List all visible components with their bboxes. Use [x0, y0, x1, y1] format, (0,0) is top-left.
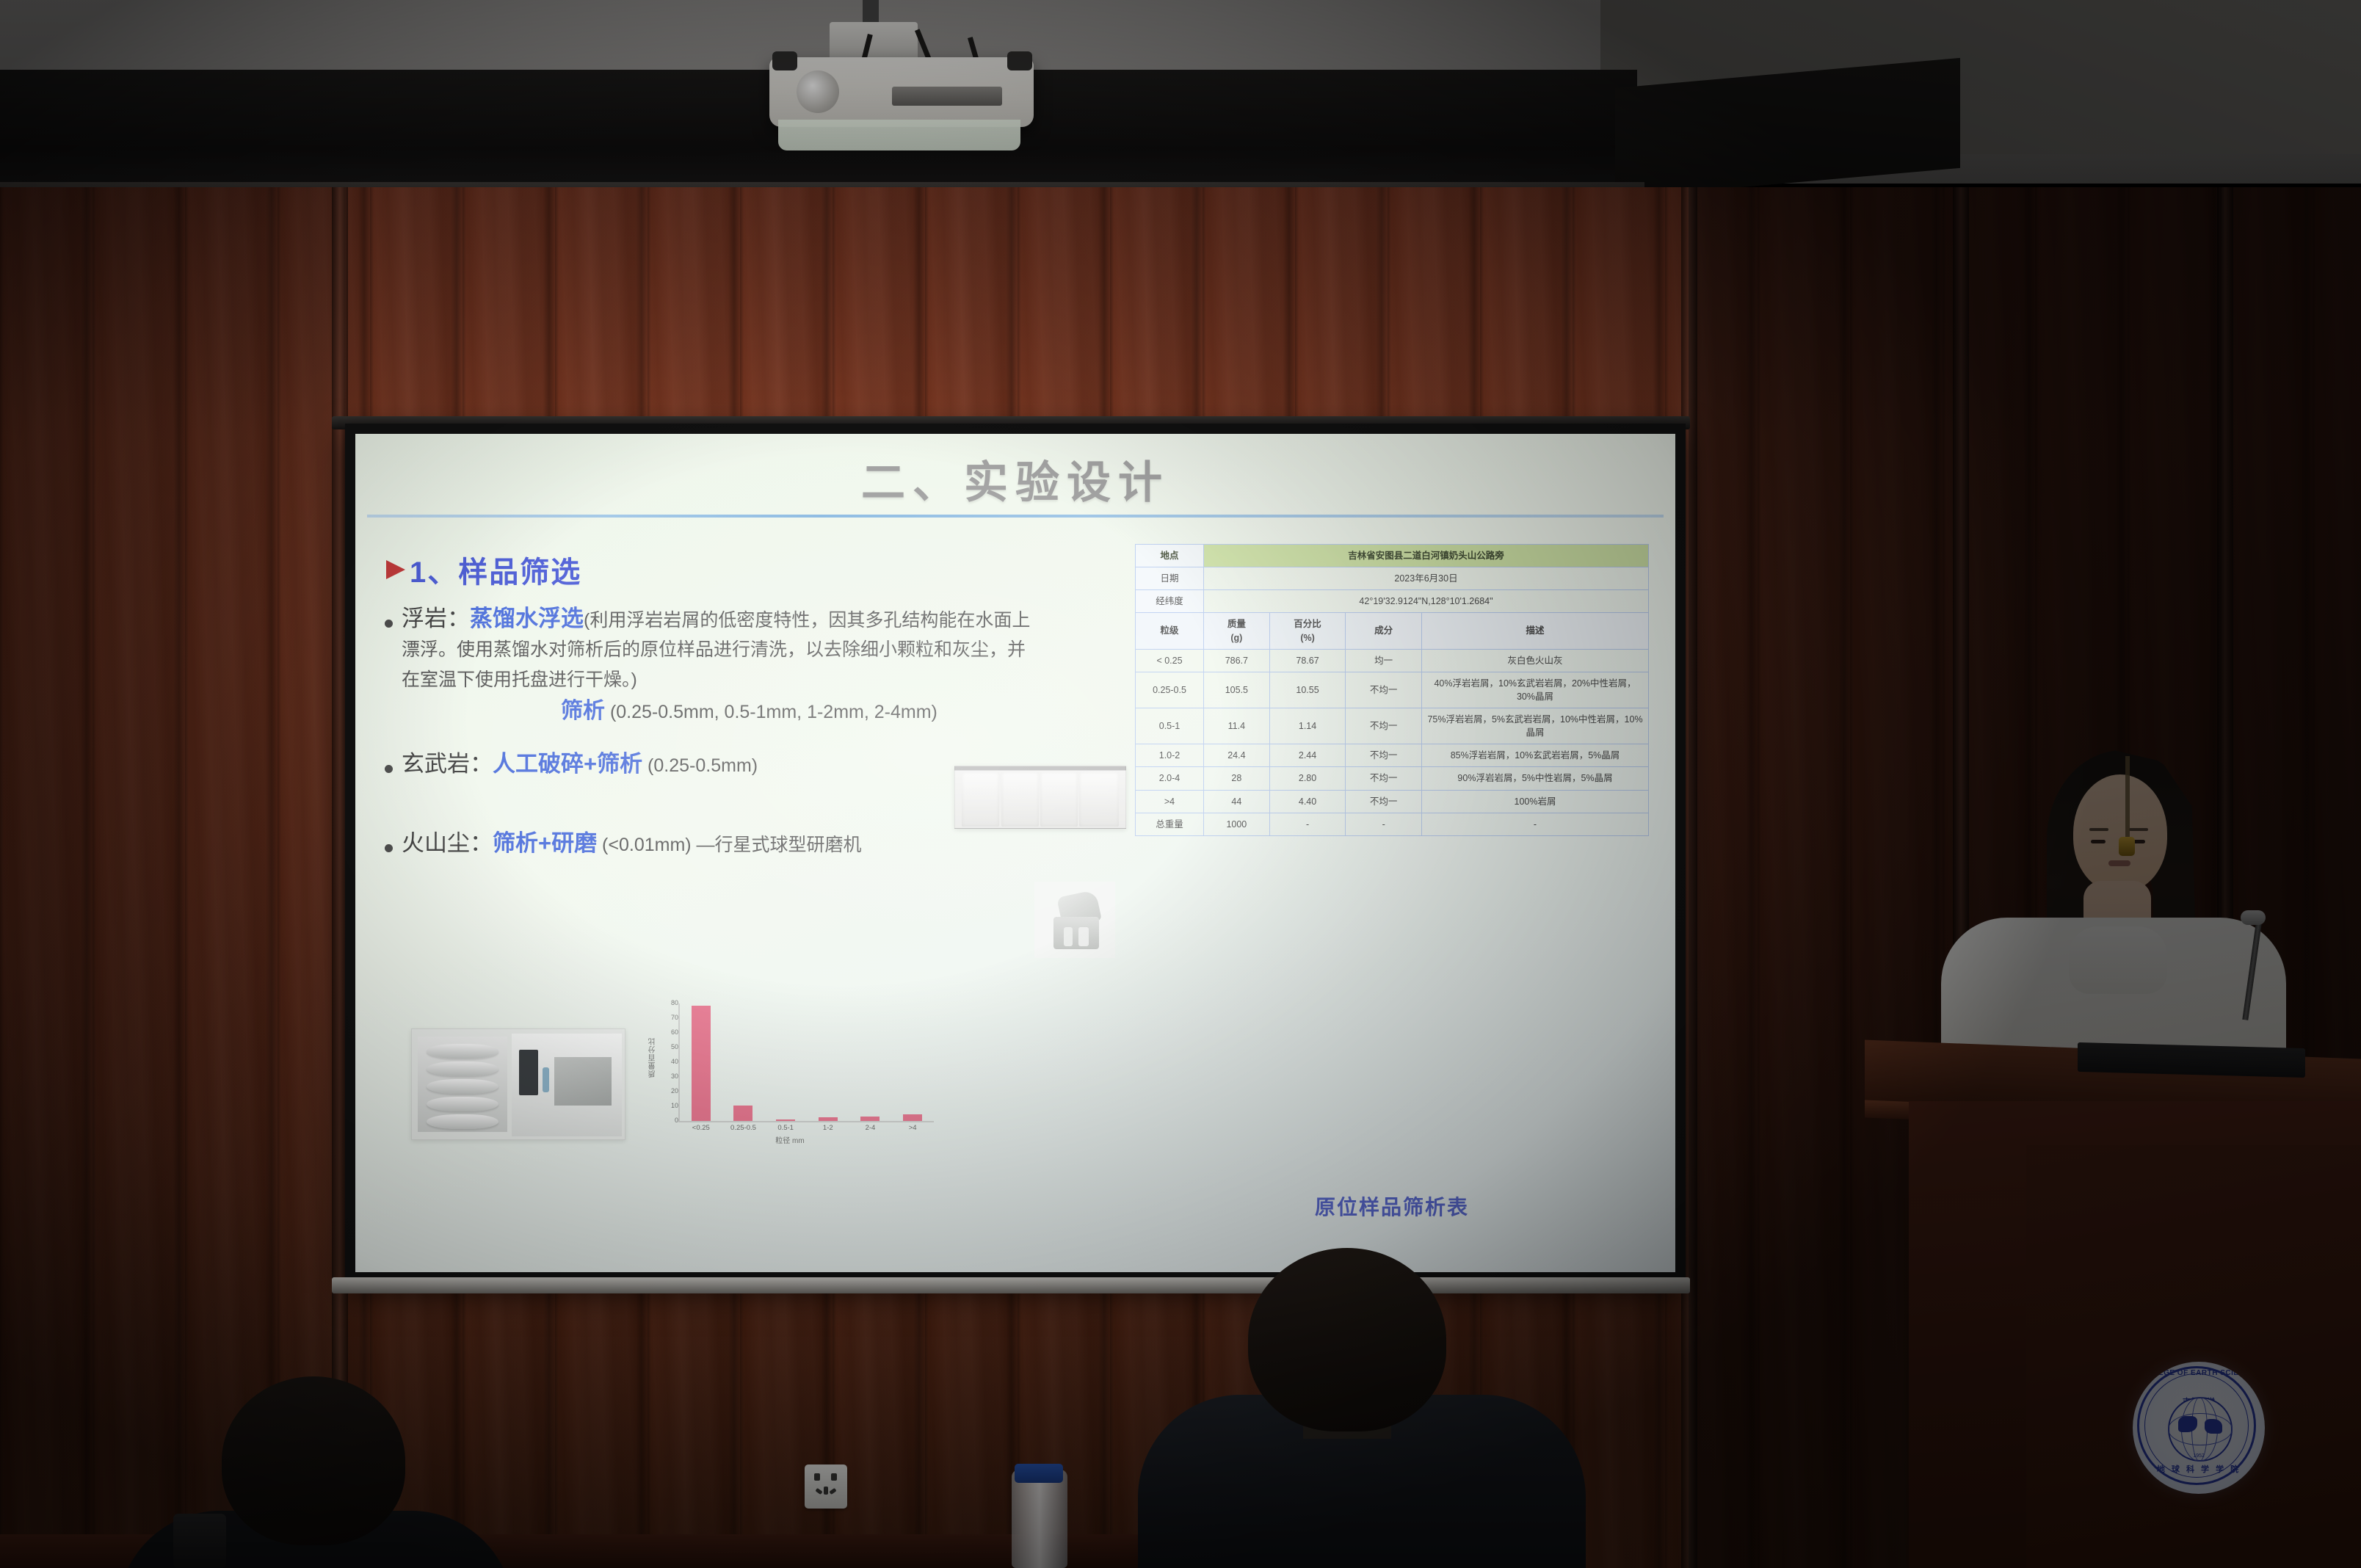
chart-x-tick: 0.25-0.5	[726, 1124, 760, 1132]
chart-y-tick: 80	[656, 999, 678, 1006]
chart-y-tick: 70	[656, 1014, 678, 1021]
bullet-dot-icon	[385, 765, 393, 773]
projector-ports	[892, 87, 1002, 106]
audience-member-center-head	[1248, 1248, 1446, 1431]
table-meta-label: 经纬度	[1136, 590, 1204, 613]
table-cell-grade: 总重量	[1136, 813, 1204, 835]
table-meta-row: 经纬度42°19'32.9124"N,128°10'1.2684"	[1136, 590, 1649, 613]
chart-y-tick: 40	[656, 1058, 678, 1065]
bullet-highlight: 蒸馏水浮选	[470, 606, 584, 631]
bullet-label: 玄武岩：	[402, 751, 493, 777]
table-cell-mass: 28	[1204, 767, 1270, 790]
table-column-header: 百分比(%)	[1269, 613, 1346, 649]
drying-oven-photo	[512, 1034, 622, 1136]
projector-lens-icon	[797, 70, 839, 113]
wall-power-socket[interactable]	[805, 1464, 847, 1509]
table-column-header: 粒级	[1136, 613, 1204, 649]
slide-title: 二、实验设计	[355, 447, 1675, 511]
sieve-stack-photo	[418, 1037, 507, 1132]
table-meta-label: 日期	[1136, 567, 1204, 590]
table-cell-desc: 90%浮岩岩屑，5%中性岩屑，5%晶屑	[1422, 767, 1649, 790]
chart-x-tick-labels: <0.25 0.25-0.5 0.5-1 1-2 2-4 >4	[680, 1124, 934, 1132]
lectern-front-panel	[2026, 1145, 2361, 1568]
chart-bar	[692, 1006, 711, 1121]
slide-bullet-pumice: 浮岩：蒸馏水浮选(利用浮岩岩屑的低密度特性，因其多孔结构能在水面上漂浮。使用蒸馏…	[385, 604, 1033, 693]
chart-bar	[776, 1119, 795, 1121]
table-cell-grade: 1.0-2	[1136, 744, 1204, 767]
table-meta-label: 地点	[1136, 545, 1204, 567]
chart-x-tick: >4	[896, 1124, 929, 1132]
presenter-eye-left	[2091, 840, 2106, 843]
globe-icon	[2168, 1397, 2233, 1462]
bullet-text: 火山尘：筛析+研磨 (<0.01mm) —行星式球型研磨机	[402, 829, 862, 858]
slide-bullet-volcanic-dust: 火山尘：筛析+研磨 (<0.01mm) —行星式球型研磨机	[385, 829, 862, 858]
chart-y-tick: 20	[656, 1087, 678, 1095]
table-meta-row: 日期2023年6月30日	[1136, 567, 1649, 590]
sample-bags-photo	[954, 766, 1126, 829]
presenter-brow-left	[2089, 828, 2108, 831]
chart-y-tick: 10	[656, 1102, 678, 1109]
table-cell-desc: 85%浮岩岩屑，10%玄武岩岩屑，5%晶屑	[1422, 744, 1649, 767]
table-column-header: 成分	[1346, 613, 1422, 649]
chart-x-axis-label: 粒径 mm	[643, 1134, 937, 1145]
table-cell-mass: 24.4	[1204, 744, 1270, 767]
chart-y-tick: 50	[656, 1043, 678, 1050]
table-cell-mass: 44	[1204, 790, 1270, 813]
table-cell-comp: 不均一	[1346, 672, 1422, 708]
bullet-body: (<0.01mm) —行星式球型研磨机	[597, 835, 861, 855]
chart-bar	[733, 1106, 752, 1121]
table-column-header: 质量(g)	[1204, 613, 1270, 649]
table-cell-pct: 2.80	[1269, 767, 1346, 790]
sieve-note-body: (0.25-0.5mm, 0.5-1mm, 1-2mm, 2-4mm)	[605, 702, 937, 722]
chart-y-tick: 0	[656, 1117, 678, 1124]
table-cell-grade: < 0.25	[1136, 649, 1204, 672]
chart-x-tick: <0.25	[684, 1124, 718, 1132]
table-caption: 原位样品筛析表	[1135, 1191, 1649, 1221]
table-meta-value: 42°19'32.9124"N,128°10'1.2684"	[1204, 590, 1649, 613]
table-row: 0.5-111.41.14不均一75%浮岩岩屑，5%玄武岩岩屑，10%中性岩屑，…	[1136, 708, 1649, 744]
bullet-text: 玄武岩：人工破碎+筛析 (0.25-0.5mm)	[402, 749, 758, 779]
water-bottle-cap	[1015, 1464, 1063, 1483]
table-meta-value: 2023年6月30日	[1204, 567, 1649, 590]
slide-title-divider	[367, 515, 1664, 518]
presenter-collar	[2069, 926, 2167, 994]
chart-x-axis	[678, 1121, 934, 1122]
bullet-text: 浮岩：蒸馏水浮选(利用浮岩岩屑的低密度特性，因其多孔结构能在水面上漂浮。使用蒸馏…	[402, 604, 1033, 693]
table-cell-comp: 不均一	[1346, 767, 1422, 790]
table-cell-grade: 0.5-1	[1136, 708, 1204, 744]
bullet-body: (0.25-0.5mm)	[642, 755, 758, 776]
bullet-dot-icon	[385, 844, 393, 852]
projector-mount-plate	[830, 22, 918, 60]
table-cell-mass: 786.7	[1204, 649, 1270, 672]
table-column-header: 描述	[1422, 613, 1649, 649]
chart-bar	[860, 1117, 880, 1121]
table-cell-desc: -	[1422, 813, 1649, 835]
gooseneck-microphone-rod	[2125, 756, 2130, 844]
emblem-chinese-bottom: 地 球 科 学 学 院	[2133, 1463, 2265, 1475]
emblem-english-text: COLLEGE OF EARTH SCIENCES	[2133, 1369, 2265, 1377]
projection-screen-bottom-bar	[332, 1277, 1690, 1293]
lab-equipment-photo	[411, 1028, 625, 1140]
laptop[interactable]	[2078, 1042, 2305, 1078]
projector-foot-left	[772, 51, 797, 70]
projector-underside	[778, 120, 1020, 150]
water-bottle[interactable]	[1012, 1470, 1067, 1568]
chart-y-tick: 30	[656, 1072, 678, 1080]
microphone-icon	[2241, 910, 2266, 925]
bullet-dot-icon	[385, 620, 393, 628]
ball-mill-photo	[1034, 882, 1115, 958]
slide-bullet-basalt: 玄武岩：人工破碎+筛析 (0.25-0.5mm)	[385, 749, 758, 779]
dark-object-on-desk	[173, 1514, 226, 1568]
lecture-hall-scene: 二、实验设计 1、样品筛选 浮岩：蒸馏水浮选(利用浮岩岩屑的低密度特性，因其多孔…	[0, 0, 2361, 1568]
bullet-highlight: 人工破碎+筛析	[493, 751, 642, 777]
table-row: 1.0-224.42.44不均一85%浮岩岩屑，10%玄武岩岩屑，5%晶屑	[1136, 744, 1649, 767]
table-cell-desc: 40%浮岩岩屑，10%玄武岩岩屑，20%中性岩屑，30%晶屑	[1422, 672, 1649, 708]
chart-x-tick: 0.5-1	[769, 1124, 802, 1132]
table-row: >4444.40不均一100%岩屑	[1136, 790, 1649, 813]
presenter-head	[2073, 774, 2167, 892]
table-cell-pct: 78.67	[1269, 649, 1346, 672]
table-cell-pct: 1.14	[1269, 708, 1346, 744]
sieve-analysis-table: 地点吉林省安图县二道白河镇奶头山公路旁日期2023年6月30日经纬度42°19'…	[1135, 544, 1649, 836]
slide-headline: 1、样品筛选	[386, 548, 581, 591]
chart-bar	[819, 1117, 838, 1121]
bullet-highlight: 筛析+研磨	[493, 830, 597, 856]
table-cell-pct: -	[1269, 813, 1346, 835]
table-cell-desc: 75%浮岩岩屑，5%玄武岩岩屑，10%中性岩屑，10%晶屑	[1422, 708, 1649, 744]
table-cell-comp: 不均一	[1346, 708, 1422, 744]
table-row: 2.0-4282.80不均一90%浮岩岩屑，5%中性岩屑，5%晶屑	[1136, 767, 1649, 790]
grain-size-bar-chart: 质量百分比 0 10 20 30 40 50 60 70 80 <0.25 0.…	[643, 1001, 937, 1140]
table-cell-comp: 均一	[1346, 649, 1422, 672]
sieve-note-highlight: 筛析	[561, 699, 605, 723]
table-cell-pct: 10.55	[1269, 672, 1346, 708]
table-meta-value: 吉林省安图县二道白河镇奶头山公路旁	[1204, 545, 1649, 567]
chart-bar	[903, 1114, 922, 1121]
college-emblem: COLLEGE OF EARTH SCIENCES 吉林大学 地 球 科 学 学…	[2133, 1362, 2265, 1494]
table-header-row: 粒级质量(g)百分比(%)成分描述	[1136, 613, 1649, 649]
table-cell-comp: 不均一	[1346, 790, 1422, 813]
chart-x-tick: 2-4	[853, 1124, 887, 1132]
table-row: 总重量1000---	[1136, 813, 1649, 835]
table-meta-row: 地点吉林省安图县二道白河镇奶头山公路旁	[1136, 545, 1649, 567]
table-cell-mass: 105.5	[1204, 672, 1270, 708]
chart-x-tick: 1-2	[811, 1124, 845, 1132]
presentation-slide: 二、实验设计 1、样品筛选 浮岩：蒸馏水浮选(利用浮岩岩屑的低密度特性，因其多孔…	[355, 434, 1675, 1272]
table-cell-desc: 灰白色火山灰	[1422, 649, 1649, 672]
slide-headline-label: 1、样品筛选	[410, 548, 581, 591]
gooseneck-microphone-icon	[2119, 837, 2135, 856]
table-cell-mass: 1000	[1204, 813, 1270, 835]
arrow-bullet-icon	[386, 560, 405, 579]
table-cell-grade: >4	[1136, 790, 1204, 813]
wall-left-panel	[0, 187, 345, 1568]
chart-bars	[680, 1003, 934, 1121]
table-row: 0.25-0.5105.510.55不均一40%浮岩岩屑，10%玄武岩岩屑，20…	[1136, 672, 1649, 708]
projector-foot-right	[1007, 51, 1032, 70]
table-cell-mass: 11.4	[1204, 708, 1270, 744]
emblem-year: 1952	[2133, 1453, 2265, 1459]
presenter-brow-right	[2129, 828, 2148, 831]
bullet-label: 火山尘：	[402, 830, 493, 856]
table-cell-comp: 不均一	[1346, 744, 1422, 767]
table-row: < 0.25786.778.67均一灰白色火山灰	[1136, 649, 1649, 672]
chart-y-tick: 60	[656, 1028, 678, 1036]
presenter-mouth	[2108, 860, 2130, 866]
bullet-label: 浮岩：	[402, 606, 470, 631]
table-cell-grade: 2.0-4	[1136, 767, 1204, 790]
table-cell-pct: 2.44	[1269, 744, 1346, 767]
table-cell-desc: 100%岩屑	[1422, 790, 1649, 813]
audience-member-left-head	[222, 1376, 405, 1545]
table-cell-comp: -	[1346, 813, 1422, 835]
slide-sieve-note: 筛析 (0.25-0.5mm, 0.5-1mm, 1-2mm, 2-4mm)	[561, 692, 937, 725]
table-cell-grade: 0.25-0.5	[1136, 672, 1204, 708]
table-cell-pct: 4.40	[1269, 790, 1346, 813]
